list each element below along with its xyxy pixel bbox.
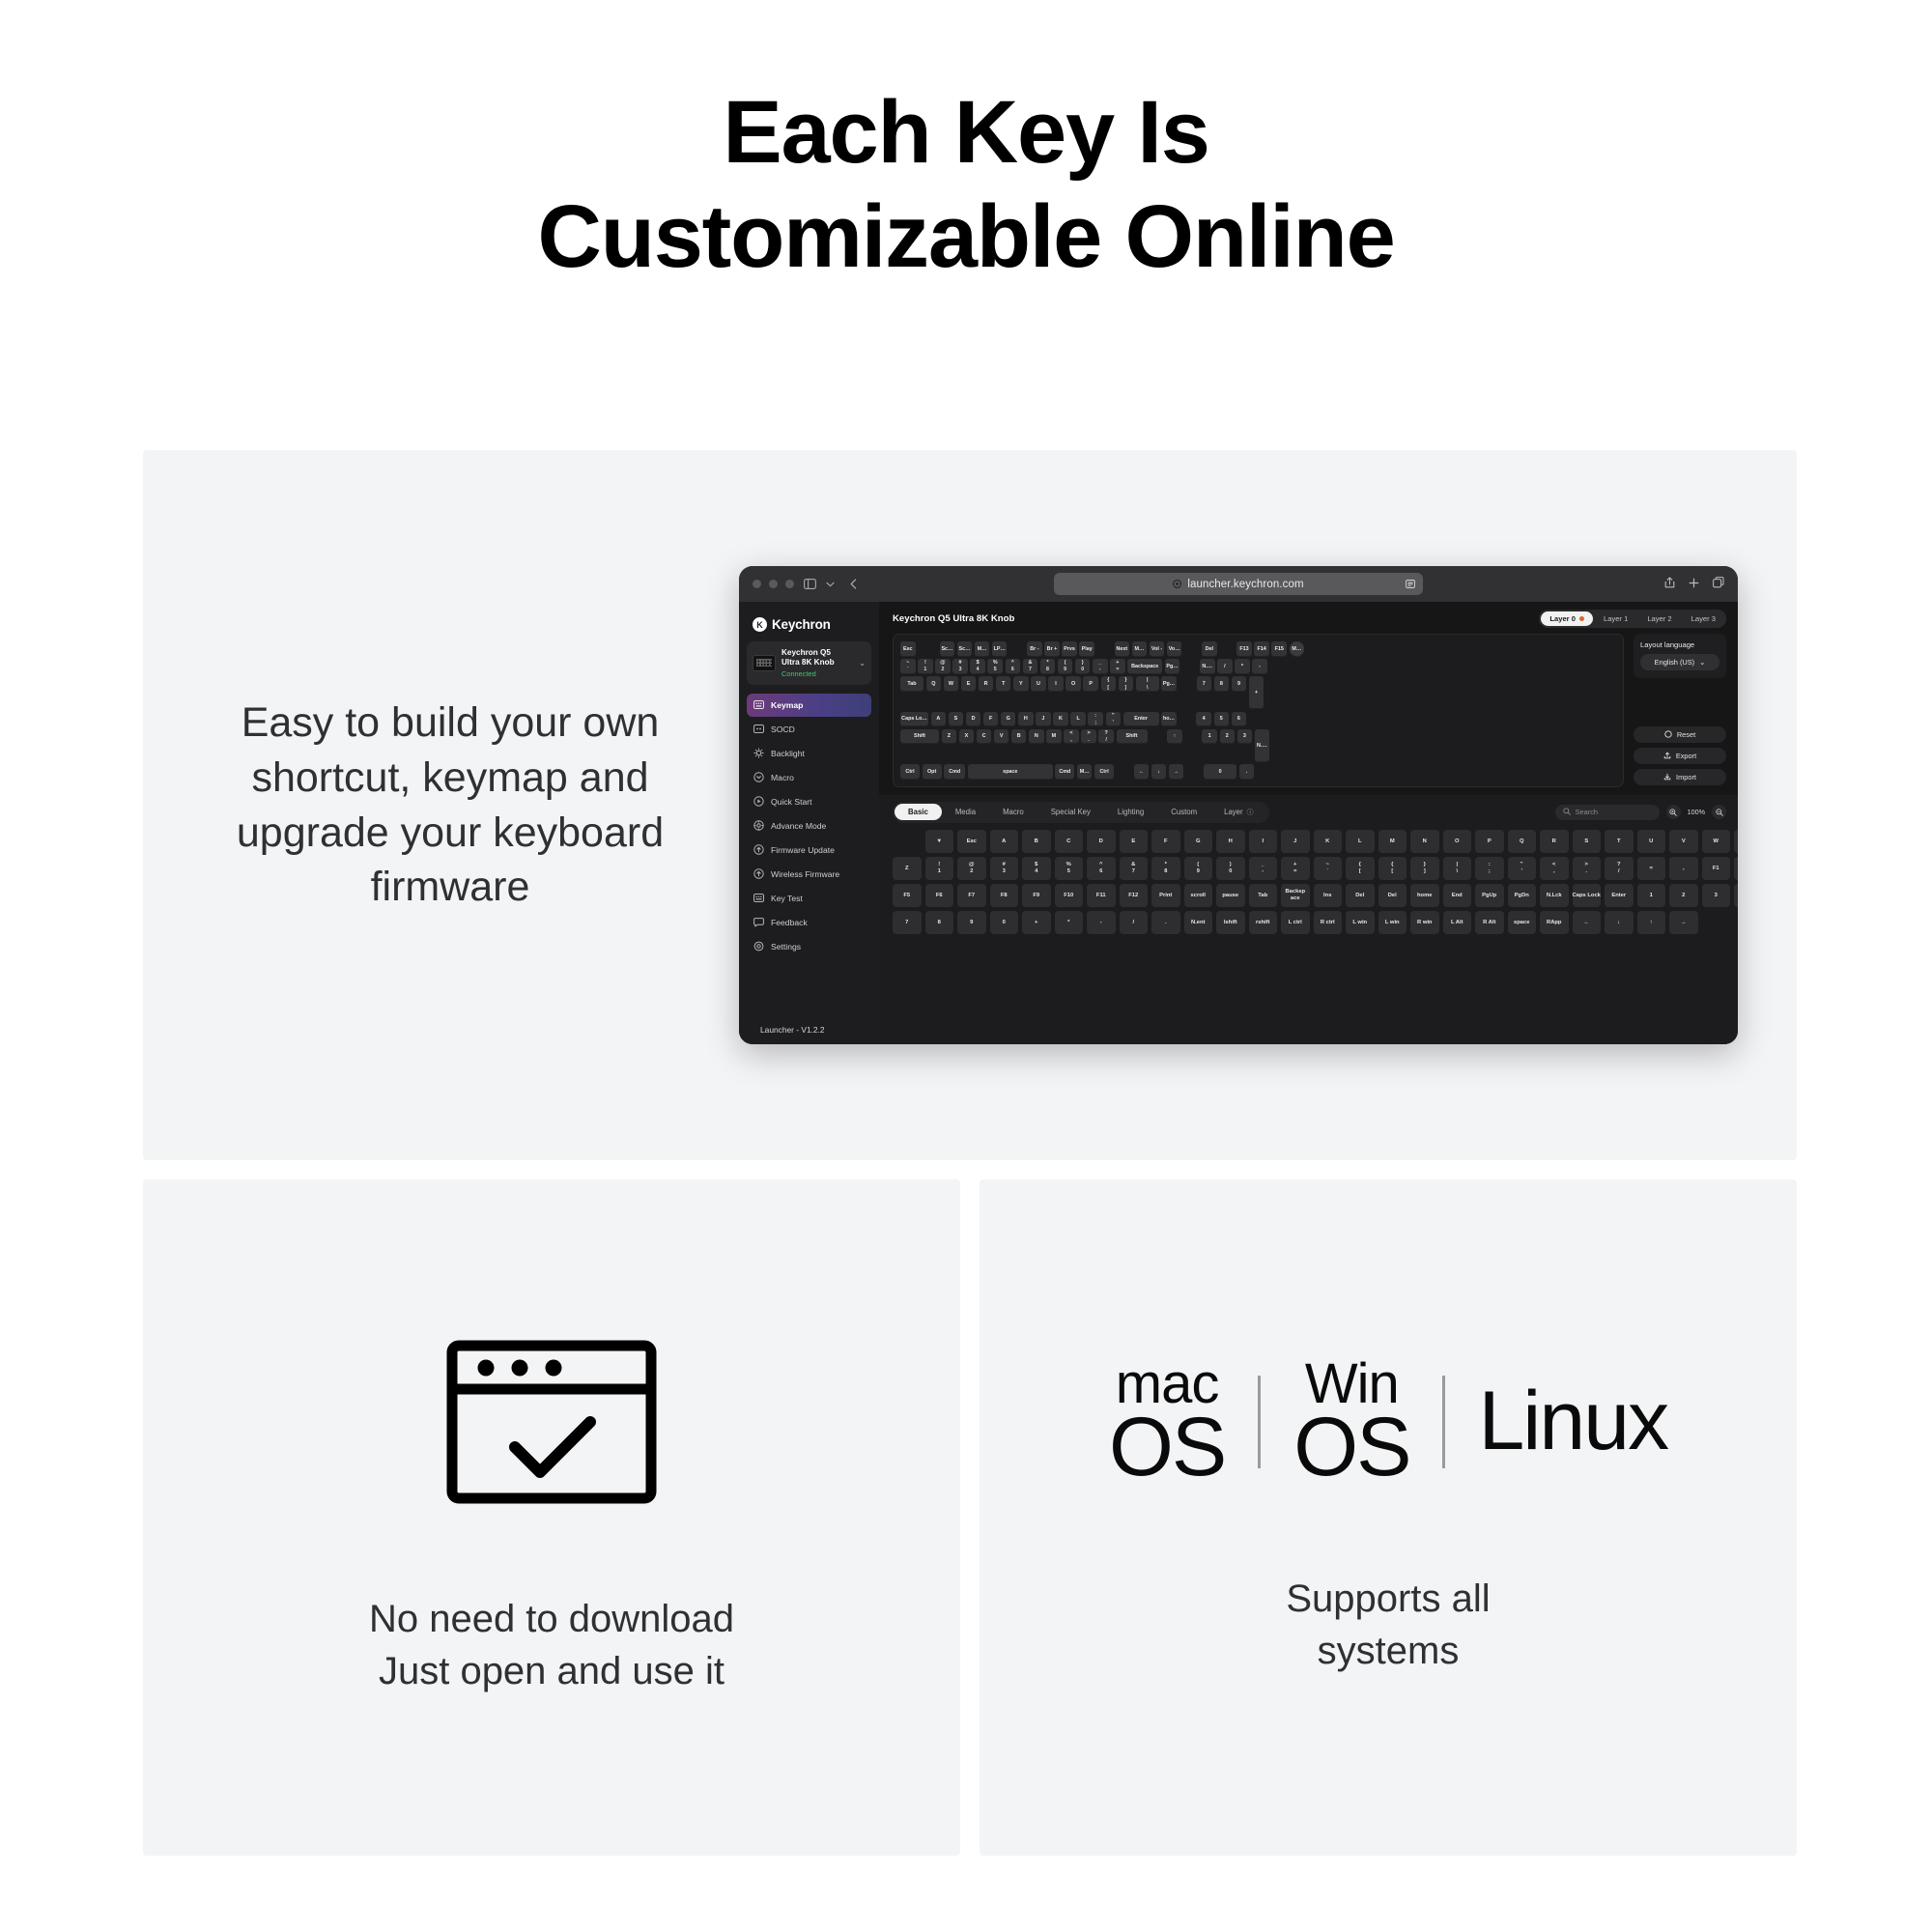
keyboard-thumbnail-icon [753,655,776,671]
sidebar-item-macro[interactable]: Macro [747,766,871,789]
keyboard-key[interactable]: Br + [1044,641,1060,657]
keyboard-key[interactable]: M… [1132,641,1148,657]
key-picker-key[interactable]: Backsp ace [1281,884,1310,907]
tab-macro[interactable]: Macro [989,804,1037,820]
key-picker-grid[interactable]: ▼EscABCDEFGHIJKLMNOPQRSTUVWXYZ!1@2#3$4%5… [893,830,1726,934]
export-icon [1663,752,1671,759]
keymap-header: Keychron Q5 Ultra 8K Knob Layer 0 Layer … [879,602,1738,634]
keyboard-key[interactable]: }] [1119,676,1134,692]
keyboard-key[interactable]: 0 [1204,764,1236,780]
key-picker-row: 7890+*-/.N.entlshiftrshiftL ctrlR ctrlL … [893,911,1726,934]
zoom-out-button[interactable] [1712,805,1726,819]
keyboard-key[interactable]: %5 [987,659,1003,674]
keyboard-key[interactable]: $4 [970,659,985,674]
keyboard-key[interactable]: Q [926,676,942,692]
key-picker-key[interactable]: RApp [1540,911,1569,934]
key-picker-key[interactable]: B [1022,830,1051,853]
key-picker-key[interactable]: . [1151,911,1180,934]
keyboard-key[interactable]: @2 [935,659,951,674]
key-picker-key[interactable]: P [1475,830,1504,853]
brand-name: Keychron [772,617,831,632]
keyboard-key[interactable]: <, [1064,729,1079,745]
keyboard-key[interactable]: Shift [900,729,939,745]
minimize-icon[interactable] [769,580,778,588]
keyboard-key[interactable]: M… [1290,641,1305,657]
keyboard-spacer [1186,764,1202,780]
keyboard-key[interactable]: Opt [923,764,942,780]
keyboard-key[interactable]: N [1029,729,1044,745]
key-picker-key[interactable]: F7 [957,884,986,907]
keyboard-key[interactable]: F [983,712,999,727]
sidebar-label: SOCD [771,724,795,734]
key-picker-key[interactable]: 0 [990,911,1019,934]
keyboard-key[interactable]: L [1070,712,1086,727]
browser-window: launcher.keychron.com [739,566,1738,1044]
key-picker-key[interactable]: 9 [957,911,986,934]
keyboard-row: ~`!1@2#3$4%5^6&7*8(9)0_-+=BackspacePg…N.… [900,659,1616,674]
key-picker-key[interactable]: Del [1346,884,1375,907]
key-picker-key[interactable]: S [1573,830,1602,853]
key-picker-key[interactable]: 4 [1734,884,1738,907]
layer-label: Layer 0 [1549,614,1576,623]
share-icon[interactable] [1664,576,1675,593]
keyboard-key[interactable]: ?/ [1098,729,1114,745]
key-picker-key[interactable]: |\ [1443,857,1472,880]
key-picker-key[interactable]: * [1055,911,1084,934]
keyboard-key[interactable]: )0 [1075,659,1091,674]
key-picker-key[interactable]: Del [1378,884,1407,907]
keyboard-key[interactable]: space [968,764,1053,780]
key-picker-key[interactable]: >. [1573,857,1602,880]
keyboard-key[interactable]: Ctrl [1094,764,1114,780]
zoom-in-button[interactable] [1666,805,1681,819]
keyboard-key[interactable]: K [1053,712,1068,727]
key-picker-key[interactable]: ?/ [1605,857,1634,880]
keyboard-key[interactable]: ~` [900,659,916,674]
tab-layer-2[interactable]: Layer 2 [1638,611,1680,626]
keyboard-key[interactable]: Vo… [1167,641,1182,657]
key-picker-key[interactable]: H [1216,830,1245,853]
key-picker-key[interactable]: N.Lck [1540,884,1569,907]
reader-icon[interactable] [1406,576,1415,593]
layout-language-select[interactable]: English (US) ⌄ [1640,654,1719,670]
sidebar-item-backlight[interactable]: Backlight [747,742,871,765]
keyboard-key[interactable]: Pg… [1161,676,1177,692]
keyboard-key[interactable]: 5 [1214,712,1230,727]
import-button[interactable]: Import [1634,769,1726,785]
key-picker-key[interactable]: J [1281,830,1310,853]
key-picker-key[interactable]: - [1087,911,1116,934]
keyboard-key[interactable]: (9 [1058,659,1073,674]
key-picker-key[interactable]: {[ [1346,857,1375,880]
key-picker-key[interactable]: pause [1216,884,1245,907]
key-picker-key[interactable]: F11 [1087,884,1116,907]
device-info: Keychron Q5 Ultra 8K Knob Connected [781,648,853,678]
keyboard-visual[interactable]: EscSc…Sc…M…LP…Br -Br +PrvsPlayNextM…Vol … [893,634,1624,787]
key-picker: BasicMediaMacroSpecial KeyLightingCustom… [879,795,1738,1044]
keyboard-spacer [1182,659,1198,674]
key-picker-key[interactable]: :; [1475,857,1504,880]
key-picker-key[interactable]: O [1443,830,1472,853]
keyboard-key[interactable]: ← [1134,764,1150,780]
launcher-version: Launcher - V1.2.2 [747,1017,871,1044]
keyboard-key[interactable]: U [1031,676,1046,692]
layout-language-value: English (US) [1655,658,1694,667]
key-picker-key[interactable]: *8 [1151,857,1180,880]
key-picker-key[interactable]: N.ent [1184,911,1213,934]
keyboard-key[interactable]: Ctrl [900,764,920,780]
keyboard-key[interactable]: &7 [1023,659,1038,674]
keyboard-key[interactable]: 1 [1202,729,1217,745]
keyboard-key[interactable]: Pg… [1165,659,1180,674]
key-picker-key[interactable]: F [1151,830,1180,853]
key-picker-key[interactable]: F2 [1734,857,1738,880]
keyboard-key[interactable]: {[ [1101,676,1117,692]
key-test-icon [753,893,764,903]
key-picker-key[interactable]: D [1087,830,1116,853]
tabs-icon[interactable] [1713,576,1724,593]
keyboard-spacer [1150,729,1165,745]
key-picker-key[interactable]: ▼ [925,830,954,853]
key-picker-key[interactable]: Esc [957,830,986,853]
sidebar-label: Firmware Update [771,845,835,855]
key-picker-key[interactable]: U [1637,830,1666,853]
chevron-down-icon[interactable] [826,582,835,587]
key-picker-key[interactable]: F1 [1702,857,1731,880]
tab-custom[interactable]: Custom [1157,804,1210,820]
tab-special-key[interactable]: Special Key [1037,804,1104,820]
key-picker-key[interactable]: F8 [990,884,1019,907]
tab-lighting[interactable]: Lighting [1104,804,1157,820]
key-picker-key[interactable]: <, [1540,857,1569,880]
key-picker-key[interactable]: M [1378,830,1407,853]
keyboard-key[interactable]: += [1110,659,1125,674]
keyboard-key[interactable]: Y [1013,676,1029,692]
keyboard-key[interactable]: B [1011,729,1027,745]
keyboard-key[interactable]: E [961,676,977,692]
keyboard-key[interactable]: Cmd [1055,764,1074,780]
search-input[interactable]: Search [1555,805,1660,820]
key-picker-key[interactable]: L win [1378,911,1407,934]
key-picker-key[interactable]: 3 [1702,884,1731,907]
zoom-level: 100% [1688,808,1705,816]
key-picker-key[interactable]: F9 [1022,884,1051,907]
keyboard-key[interactable]: ↓ [1151,764,1167,780]
key-picker-key[interactable]: I [1249,830,1278,853]
device-selector[interactable]: Keychron Q5 Ultra 8K Knob Connected ⌄ [747,641,871,685]
key-picker-key[interactable]: L Alt [1443,911,1472,934]
tab-basic[interactable]: Basic [895,804,942,820]
key-picker-key[interactable]: L win [1346,911,1375,934]
key-picker-key[interactable]: += [1281,857,1310,880]
sidebar-item-socd[interactable]: SOCD [747,718,871,741]
keyboard-key[interactable]: M [1046,729,1062,745]
key-picker-key[interactable]: )0 [1216,857,1245,880]
keyboard-key[interactable]: "' [1106,712,1122,727]
keyboard-key[interactable]: 6 [1232,712,1247,727]
os-winos-suffix: OS [1293,1409,1409,1486]
device-status: Connected [781,669,853,678]
keyboard-key[interactable]: Caps Lo… [900,712,928,727]
sidebar-item-firmware-update[interactable]: Firmware Update [747,838,871,862]
keyboard-key[interactable]: 2 [1220,729,1236,745]
key-picker-key[interactable]: W [1702,830,1731,853]
reset-label: Reset [1677,730,1695,739]
key-picker-key[interactable]: X [1734,830,1738,853]
keyboard-key[interactable]: |\ [1136,676,1159,692]
key-picker-key[interactable]: L ctrl [1281,911,1310,934]
sidebar-label: Wireless Firmware [771,869,839,879]
tab-media[interactable]: Media [942,804,989,820]
key-picker-key[interactable]: ← [1573,911,1602,934]
key-picker-key[interactable]: lshift [1216,911,1245,934]
keyboard-key[interactable]: ^6 [1006,659,1021,674]
tab-layer-1[interactable]: Layer 1 [1595,611,1636,626]
key-picker-key[interactable]: #3 [990,857,1019,880]
key-picker-key[interactable]: 8 [925,911,954,934]
keyboard-key[interactable]: O [1065,676,1081,692]
maximize-icon[interactable] [785,580,794,588]
keyboard-key[interactable]: M… [975,641,990,657]
window-controls[interactable] [753,580,794,588]
key-picker-key[interactable]: Caps Lock [1573,884,1602,907]
key-picker-key[interactable]: A [990,830,1019,853]
keyboard-key[interactable]: A [931,712,947,727]
key-picker-key[interactable]: 7 [893,911,922,934]
keyboard-key[interactable]: - [1252,659,1267,674]
key-picker-key[interactable]: PgUp [1475,884,1504,907]
keyboard-key[interactable]: F15 [1271,641,1287,657]
key-picker-key[interactable]: &7 [1120,857,1149,880]
keyboard-key[interactable]: 7 [1197,676,1212,692]
chevron-down-icon[interactable]: ⌄ [859,659,866,668]
key-picker-key[interactable]: → [1669,911,1698,934]
key-picker-key[interactable]: R win [1410,911,1439,934]
tab-layer-3[interactable]: Layer 3 [1683,611,1724,626]
key-picker-key[interactable]: {[ [1378,857,1407,880]
keyboard-key[interactable]: P [1083,676,1098,692]
key-picker-key[interactable]: R ctrl [1314,911,1343,934]
key-picker-key[interactable]: End [1443,884,1472,907]
key-picker-key[interactable]: @2 [957,857,986,880]
keyboard-key[interactable]: Br - [1027,641,1042,657]
keyboard-key[interactable]: Next [1115,641,1130,657]
sidebar-label: Keymap [771,700,803,710]
key-picker-key[interactable]: home [1410,884,1439,907]
key-picker-key[interactable]: ~` [1314,857,1343,880]
keyboard-key[interactable]: N.… [1255,729,1270,762]
sidebar-item-quick-start[interactable]: Quick Start [747,790,871,813]
keyboard-key[interactable]: Backspace [1127,659,1162,674]
key-picker-key[interactable]: , [1669,857,1698,880]
keyboard-key[interactable]: X [959,729,975,745]
keychron-mark-icon: K [753,617,767,632]
key-picker-key[interactable]: F6 [925,884,954,907]
keyboard-key[interactable]: !1 [918,659,933,674]
keyboard-key[interactable]: C [977,729,992,745]
key-picker-key[interactable]: N [1410,830,1439,853]
reset-button[interactable]: Reset [1634,726,1726,743]
tab-layer-0[interactable]: Layer 0 [1541,611,1593,626]
keyboard-key[interactable]: 4 [1196,712,1211,727]
key-picker-key[interactable]: Enter [1605,884,1634,907]
key-picker-key[interactable]: !1 [925,857,954,880]
keyboard-key[interactable]: J [1036,712,1051,727]
page-root: Each Key Is Customizable Online Easy to … [0,0,1932,1932]
key-picker-key[interactable]: + [1022,911,1051,934]
key-picker-key[interactable]: Print [1151,884,1180,907]
key-picker-row: Z!1@2#3$4%5^6&7*8(9)0_-+=~`{[{[}]|\:;"'<… [893,857,1726,880]
keyboard-key[interactable]: Enter [1123,712,1159,727]
site-badge-icon [1173,576,1181,593]
tab-layer[interactable]: Layerⓘ [1210,804,1267,821]
new-tab-icon[interactable] [1689,576,1699,593]
keyboard-key[interactable]: LP… [992,641,1008,657]
keyboard-key[interactable]: I [1048,676,1064,692]
sidebar-item-settings[interactable]: Settings [747,935,871,958]
key-picker-key[interactable]: R [1540,830,1569,853]
keyboard-key[interactable]: 8 [1214,676,1230,692]
keyboard-key[interactable]: H [1018,712,1034,727]
launcher-sidebar: K Keychron Keychron Q5 Ultra 8K Knob Con… [739,602,879,1044]
keyboard-key[interactable]: Cmd [944,764,965,780]
keyboard-key[interactable]: Sc… [957,641,973,657]
key-picker-key[interactable]: F5 [893,884,922,907]
cards-grid: Easy to build your own shortcut, keymap … [143,450,1797,1856]
key-picker-key[interactable]: }] [1410,857,1439,880]
keyboard-key[interactable]: F13 [1236,641,1252,657]
key-picker-row: ▼EscABCDEFGHIJKLMNOPQRSTUVWXY [893,830,1726,853]
key-picker-key[interactable]: Tab [1249,884,1278,907]
key-picker-key[interactable]: Q [1508,830,1537,853]
keyboard-key[interactable]: Play [1079,641,1094,657]
keyboard-key[interactable]: 3 [1237,729,1253,745]
keyboard-key[interactable]: . [1239,764,1255,780]
key-picker-header: BasicMediaMacroSpecial KeyLightingCustom… [893,802,1726,823]
os-macos: mac OS [1109,1358,1225,1486]
keyboard-key[interactable]: W [944,676,959,692]
key-picker-key[interactable]: C [1055,830,1084,853]
sidebar-item-wireless-firmware[interactable]: Wireless Firmware [747,863,871,886]
key-picker-key[interactable]: ↑ [1637,911,1666,934]
keyboard-key[interactable]: Prvs [1062,641,1077,657]
key-picker-key[interactable]: = [1637,857,1666,880]
page-title: Each Key Is Customizable Online [0,0,1932,289]
key-picker-key[interactable]: Ins [1314,884,1343,907]
keyboard-key[interactable]: Del [1202,641,1217,657]
keyboard-key[interactable]: N.… [1200,659,1215,674]
keyboard-key[interactable]: G [1001,712,1016,727]
sidebar-item-advance-mode[interactable]: Advance Mode [747,814,871,838]
keyboard-key[interactable]: ↑ [1167,729,1182,745]
keyboard-key[interactable]: Sc… [940,641,955,657]
key-picker-key[interactable]: G [1184,830,1213,853]
keyboard-key[interactable]: F14 [1254,641,1269,657]
sidebar-label: Backlight [771,749,805,758]
key-picker-key[interactable]: E [1120,830,1149,853]
keyboard-key[interactable]: R [979,676,994,692]
key-picker-key[interactable]: $4 [1022,857,1051,880]
divider [1258,1376,1261,1468]
keyboard-key[interactable]: :; [1088,712,1103,727]
keyboard-key[interactable]: V [994,729,1009,745]
keyboard-key[interactable]: Tab [900,676,923,692]
key-picker-key[interactable]: (9 [1184,857,1213,880]
key-picker-key[interactable]: R Alt [1475,911,1504,934]
keyboard-key[interactable]: *8 [1040,659,1056,674]
key-picker-key[interactable]: F12 [1120,884,1149,907]
keyboard-key[interactable]: Z [942,729,957,745]
key-picker-key[interactable]: V [1669,830,1698,853]
keyboard-key[interactable]: >. [1081,729,1096,745]
feedback-icon [753,917,764,927]
key-picker-key[interactable]: F10 [1055,884,1084,907]
sidebar-icon[interactable] [804,579,816,589]
info-icon[interactable]: ⓘ [1247,808,1254,817]
keyboard-key[interactable]: S [949,712,964,727]
keyboard-row: CtrlOptCmdspaceCmdM…Ctrl←↓→0. [900,764,1616,780]
keyboard-key[interactable]: / [1217,659,1233,674]
export-label: Export [1676,752,1696,760]
keyboard-spacer [1179,712,1194,727]
card-supports-caption: Supports all systems [1286,1573,1490,1677]
layer-tabs: Layer 0 Layer 1 Layer 2 Layer 3 [1539,610,1726,628]
key-picker-key[interactable]: scroll [1184,884,1213,907]
keyboard-key[interactable]: + [1249,676,1264,709]
os-macos-suffix: OS [1109,1409,1225,1486]
keyboard-key[interactable]: * [1235,659,1250,674]
keyboard-key[interactable]: D [966,712,981,727]
keyboard-key[interactable]: → [1169,764,1184,780]
key-picker-key[interactable]: rshift [1249,911,1278,934]
close-icon[interactable] [753,580,761,588]
key-picker-key[interactable]: / [1120,911,1149,934]
address-bar[interactable]: launcher.keychron.com [1054,573,1423,595]
key-picker-key[interactable]: %5 [1055,857,1084,880]
key-picker-key[interactable]: 1 [1637,884,1666,907]
sidebar-item-keymap[interactable]: Keymap [747,694,871,717]
key-picker-key[interactable]: T [1605,830,1634,853]
key-picker-key[interactable]: Z [893,857,922,880]
keyboard-key[interactable]: Vol - [1150,641,1165,657]
keyboard-key[interactable]: M… [1077,764,1093,780]
key-picker-key[interactable]: L [1346,830,1375,853]
keyboard-key[interactable]: Esc [900,641,916,657]
back-icon[interactable] [850,579,857,589]
keyboard-key[interactable]: 9 [1232,676,1247,692]
key-picker-key[interactable]: space [1508,911,1537,934]
sidebar-item-feedback[interactable]: Feedback [747,911,871,934]
key-picker-key[interactable]: PgDn [1508,884,1537,907]
keymap-side-panel: Layout language English (US) ⌄ [1634,634,1726,787]
key-picker-key[interactable]: ^6 [1087,857,1116,880]
keyboard-key[interactable]: T [996,676,1011,692]
key-picker-key[interactable]: K [1314,830,1343,853]
key-picker-key[interactable]: _- [1249,857,1278,880]
keyboard-key[interactable]: ho… [1161,712,1177,727]
keyboard-key[interactable]: _- [1093,659,1108,674]
key-picker-key[interactable]: ↓ [1605,911,1634,934]
key-picker-key[interactable]: "' [1508,857,1537,880]
export-button[interactable]: Export [1634,748,1726,764]
caption-line-2: Just open and use it [369,1645,734,1697]
key-picker-key[interactable]: 2 [1669,884,1698,907]
keyboard-key[interactable]: Shift [1117,729,1148,745]
browser-toolbar: launcher.keychron.com [739,566,1738,602]
layer-label: Layer 3 [1691,614,1716,623]
keyboard-key[interactable]: #3 [952,659,968,674]
sidebar-item-key-test[interactable]: Key Test [747,887,871,910]
